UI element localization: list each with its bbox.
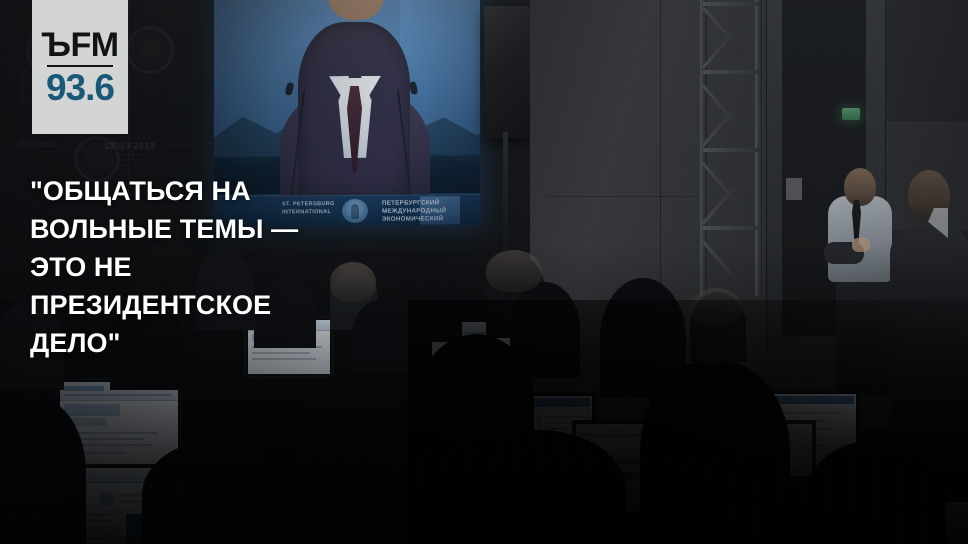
second-man-body xyxy=(890,228,968,428)
page-text-line xyxy=(82,538,114,540)
wall-tile xyxy=(886,0,968,121)
exit-sign-icon xyxy=(842,108,860,120)
page-logo-icon xyxy=(100,492,114,506)
truss-crossbar xyxy=(703,148,761,152)
logo-frequency-text: 93.6 xyxy=(46,69,114,106)
headline-text: "ОБЩАТЬСЯ НА ВОЛЬНЫЕ ТЕМЫ — ЭТО НЕ ПРЕЗИ… xyxy=(30,172,360,362)
spief-watermark: SPIEF2013 xyxy=(104,141,155,151)
browser-tab xyxy=(64,386,104,391)
wall-tile xyxy=(660,0,705,197)
article-hero-image: SPIEF2013 ST. PETERSBURG INTERNATIONAL E… xyxy=(0,0,968,544)
page-text-line xyxy=(82,526,116,528)
page-banner xyxy=(64,404,120,416)
audience-silhouette xyxy=(294,370,414,544)
pa-speaker-stand xyxy=(503,132,508,252)
pa-speaker-box xyxy=(484,6,530,138)
lighting-truss xyxy=(700,0,762,296)
page-text-line xyxy=(82,514,116,516)
spief-watermark: SPIEF2013 xyxy=(16,142,57,149)
audience-silhouette xyxy=(640,360,790,544)
spief-watermark-sub: ST. PETERSBURG INTERNATIONAL ECONOMIC FO… xyxy=(105,152,147,168)
wall-seam xyxy=(22,0,23,150)
truss-crossbar xyxy=(703,2,761,6)
wall-notice-sheet xyxy=(786,178,802,200)
truss-brace xyxy=(702,241,744,288)
audience-silhouette xyxy=(142,440,292,544)
audience-hair-highlight xyxy=(486,250,542,292)
audience-silhouette xyxy=(510,282,580,378)
truss-crossbar xyxy=(703,70,761,74)
wall-seam xyxy=(128,0,129,200)
page-text-line xyxy=(82,520,112,522)
wall-tile xyxy=(548,0,661,197)
logo-mark-text: ЪFM xyxy=(41,28,118,62)
truss-crossbar xyxy=(703,226,761,230)
page-text-line xyxy=(66,432,158,434)
standing-man-head xyxy=(844,168,876,206)
standing-man-hands xyxy=(852,238,870,252)
page-text-line xyxy=(120,500,142,503)
browser-addressbar xyxy=(64,394,172,396)
wall-emblem-icon xyxy=(126,26,174,74)
audience-silhouette xyxy=(352,300,410,372)
audience-silhouette xyxy=(806,440,946,544)
audience-hair-highlight xyxy=(690,288,742,326)
audience-silhouette xyxy=(436,430,626,544)
station-logo-badge[interactable]: ЪFM 93.6 xyxy=(32,0,128,134)
page-text-line xyxy=(544,416,588,418)
